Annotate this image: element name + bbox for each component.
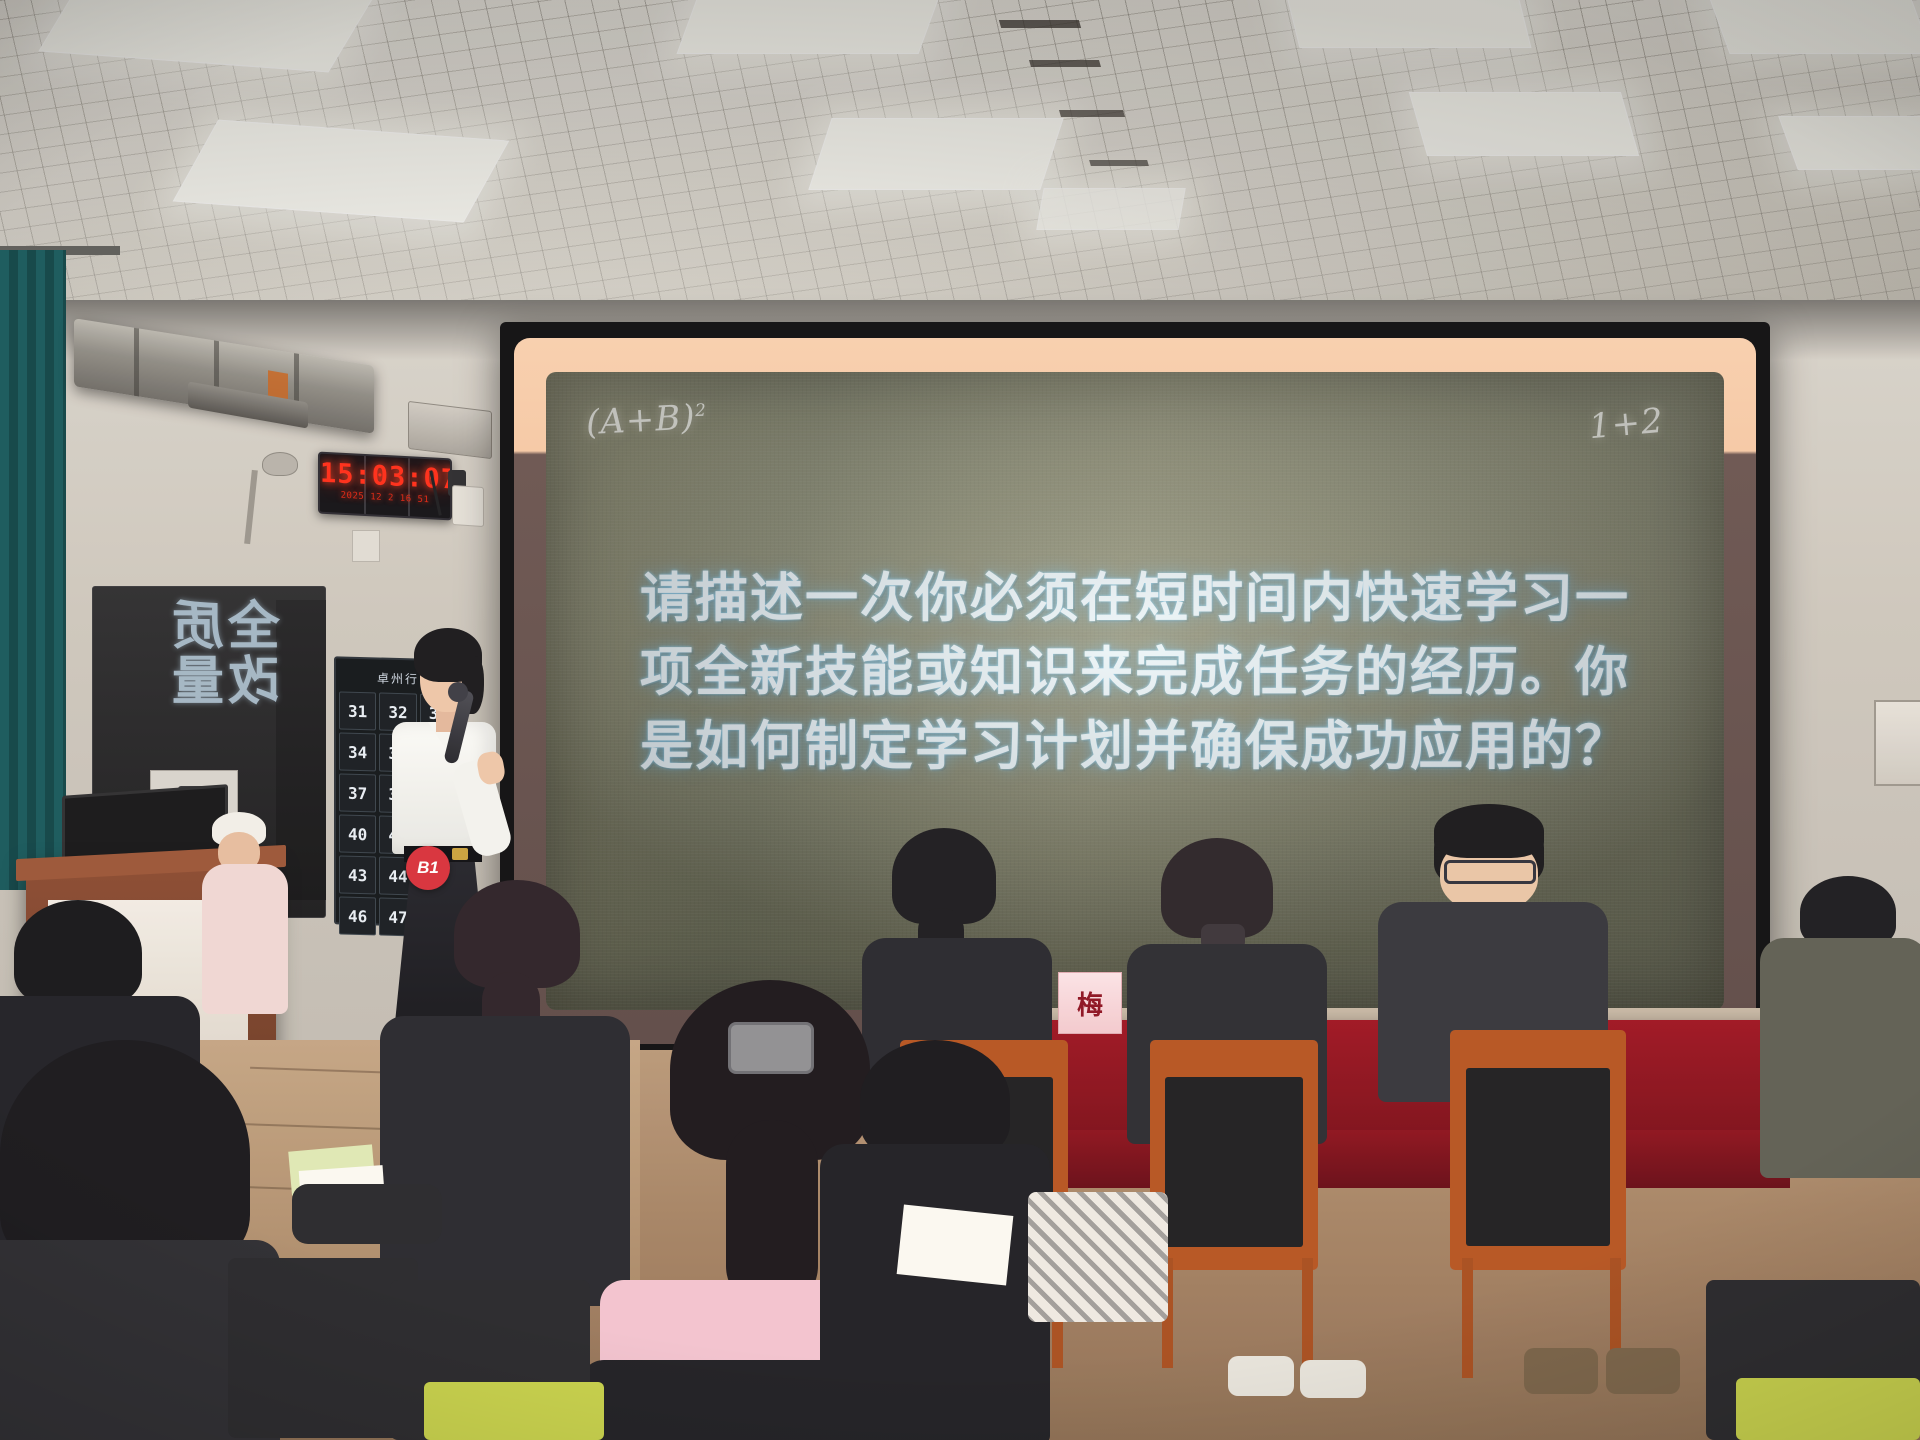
shoe-3 (1524, 1348, 1598, 1394)
hair (1161, 838, 1273, 938)
pink-coat (202, 864, 288, 1014)
number-cell: 43 (339, 855, 376, 894)
ceiling (0, 0, 1920, 330)
desk-arm-left (292, 1184, 442, 1244)
number-cell: 31 (339, 691, 376, 730)
foreground-green-seat-left (424, 1382, 604, 1440)
handbag-pattern (1028, 1192, 1168, 1322)
notepad-center (897, 1204, 1014, 1285)
number-cell: 40 (339, 814, 376, 853)
window-curtain (0, 250, 66, 890)
presenter-belt-buckle (452, 848, 468, 860)
number-cell: 46 (339, 896, 376, 935)
hair (14, 900, 142, 1006)
number-cell: 34 (339, 732, 376, 771)
ceiling-shading (0, 0, 1920, 330)
chair-back-3 (1450, 1030, 1626, 1270)
number-cell: 37 (339, 773, 376, 812)
classroom-photo: 15:03:07 2025 12 2 16 51 (A+B)2 1+2 请描述一… (0, 0, 1920, 1440)
glasses-icon (1444, 860, 1536, 884)
chair-back-2 (1150, 1040, 1318, 1270)
coat (1760, 938, 1920, 1178)
hair-clip-icon (728, 1022, 814, 1074)
shoe-2 (1300, 1360, 1366, 1398)
chair-leg-4 (1302, 1258, 1313, 1368)
wall-speaker (408, 401, 492, 459)
microphone-head-icon (448, 682, 468, 702)
foreground-green-seat-right (1736, 1378, 1920, 1440)
dome-camera-icon (262, 452, 298, 476)
fire-alarm-box (1874, 700, 1920, 786)
chair-leg-5 (1462, 1258, 1473, 1378)
wall-outlet (452, 485, 484, 527)
hair (0, 1040, 250, 1270)
judge-name-card: 梅 (1058, 972, 1122, 1034)
shoe-4 (1606, 1348, 1680, 1394)
hair-top (1434, 804, 1544, 858)
presenter-number-badge: B1 (406, 846, 450, 890)
mirrored-wall-sign: 全质 改量 (140, 600, 280, 756)
wall-switch-plate (352, 530, 380, 562)
coat (820, 1144, 1050, 1440)
shoe-1 (1228, 1356, 1294, 1396)
hair (860, 1040, 1010, 1160)
